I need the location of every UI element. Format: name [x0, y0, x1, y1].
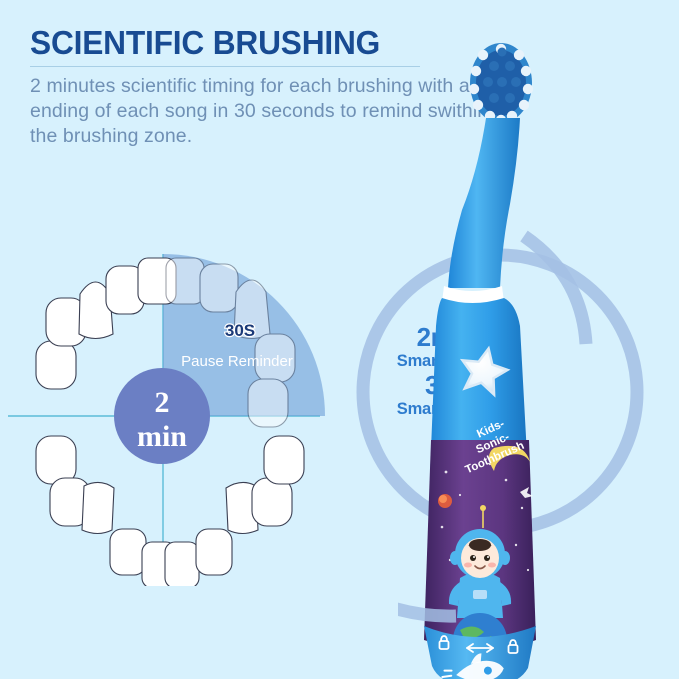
quadrant-label: 30S — [225, 321, 255, 340]
svg-text:2: 2 — [155, 386, 170, 419]
toothbrush-illustration: Kids- Sonic- Toothbrush — [398, 40, 628, 679]
quadrant-sublabel: Pause Reminder — [181, 353, 293, 370]
title-divider — [30, 66, 420, 67]
product-infographic: SCIENTIFIC BRUSHING 2 minutes scientific… — [0, 0, 679, 679]
brush-bristles — [469, 43, 533, 125]
svg-text:min: min — [137, 420, 187, 453]
center-timer: 2 min — [114, 368, 210, 464]
ring-behind-brush-top — [524, 236, 586, 344]
brush-neck — [448, 118, 520, 288]
teeth-diagram: 30S Pause Reminder 2 min — [0, 246, 340, 586]
